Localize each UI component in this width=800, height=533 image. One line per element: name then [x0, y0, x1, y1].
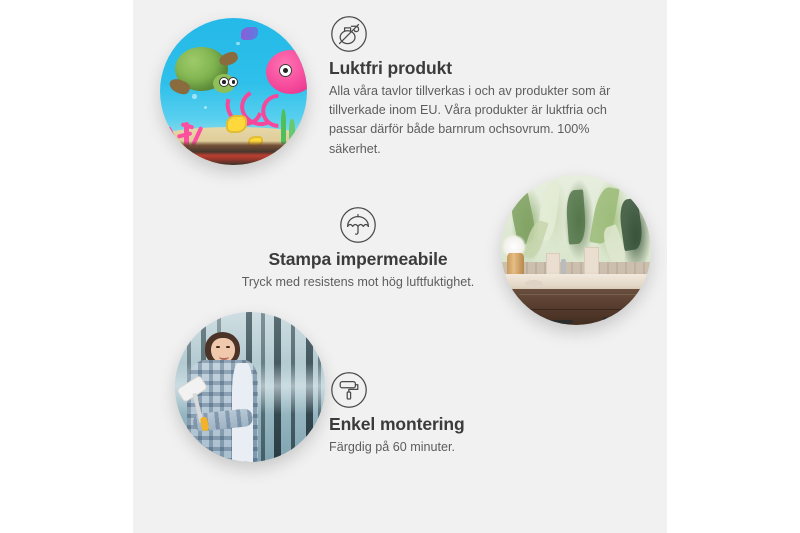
- vanity-drawer: [519, 294, 651, 310]
- cabinet-handle: [627, 316, 631, 322]
- bathroom-tropical-wallpaper-photo: [501, 175, 651, 325]
- drawer-handle: [543, 320, 573, 324]
- feature-easy-assembly: Enkel montering Färgdig på 60 minuter.: [329, 370, 609, 457]
- paint-roller-icon: [329, 370, 369, 410]
- feature-waterproof-print: Stampa impermeabile Tryck med resistens …: [218, 205, 498, 292]
- photo-bottom-strip: [160, 141, 307, 165]
- seaweed: [281, 109, 287, 144]
- yellow-fish: [226, 115, 247, 133]
- feature-odour-free: Luktfri produkt Alla våra tavlor tillver…: [329, 14, 629, 159]
- woman-smile: [219, 353, 230, 360]
- woman-with-paint-roller-forest-photo: [175, 312, 325, 462]
- feature-title: Enkel montering: [329, 414, 609, 434]
- turtle-eye: [228, 77, 238, 87]
- purple-fish: [241, 27, 259, 40]
- cabinet-handle: [603, 317, 607, 323]
- feature-title: Luktfri produkt: [329, 58, 629, 78]
- wooden-vanity: [510, 289, 651, 325]
- woman-eye: [226, 346, 230, 348]
- feature-title: Stampa impermeabile: [218, 249, 498, 269]
- bubble-icon: [192, 94, 196, 98]
- umbrella-icon: [338, 205, 378, 245]
- underwater-cartoon-mural-photo: [160, 18, 307, 165]
- promo-panel: Luktfri produkt Alla våra tavlor tillver…: [133, 0, 667, 533]
- feature-body: Färgdig på 60 minuter.: [329, 438, 609, 457]
- woman-eye: [216, 346, 220, 348]
- forest-scene: [175, 312, 325, 462]
- bathroom-scene: [501, 175, 651, 325]
- soap-dish: [525, 280, 543, 288]
- bubble-icon: [236, 42, 240, 46]
- promo-banner: Luktfri produkt Alla våra tavlor tillver…: [0, 0, 800, 533]
- no-odour-spray-bottle-icon: [329, 14, 369, 54]
- feature-body: Tryck med resistens mot hög luftfuktighe…: [218, 273, 498, 292]
- sea-background: [160, 18, 307, 165]
- feature-body: Alla våra tavlor tillverkas i och av pro…: [329, 82, 629, 159]
